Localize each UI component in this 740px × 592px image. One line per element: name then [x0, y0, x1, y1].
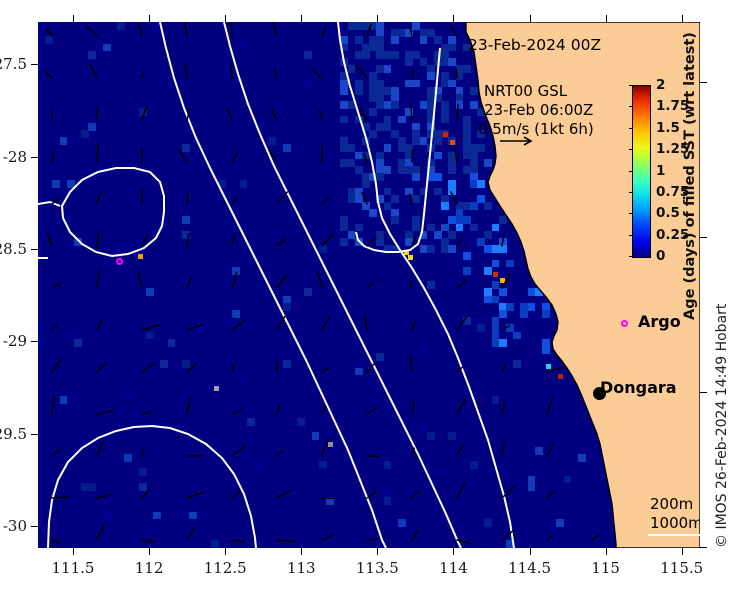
velocity-vector — [502, 275, 510, 288]
velocity-vector — [457, 318, 466, 330]
depth-1000m-label: 1000m — [650, 514, 700, 532]
velocity-vector — [232, 410, 242, 414]
velocity-vector — [322, 234, 333, 246]
x-tick-mark — [225, 548, 226, 555]
colorbar-title: Age (days) of filled SST (wrt latest) — [682, 298, 740, 320]
contour-arc-sw — [48, 426, 256, 548]
contour-edge-nw — [38, 202, 60, 206]
x-tick-label: 113.5 — [347, 559, 407, 577]
velocity-vector — [86, 26, 97, 36]
velocity-vector — [410, 28, 412, 36]
velocity-vector — [232, 492, 239, 498]
velocity-vector — [52, 540, 61, 543]
velocity-vector — [457, 483, 465, 498]
velocity-vector — [547, 367, 563, 372]
velocity-vector — [232, 363, 234, 372]
sst-age-map-figure: 23-Feb-2024 00Z NRT00 GSL 23-Feb 06:00Z … — [0, 0, 740, 592]
velocity-vector — [277, 239, 285, 246]
velocity-vector — [367, 407, 377, 414]
velocity-vector — [273, 22, 277, 36]
velocity-vector — [502, 440, 506, 456]
product-line-1: NRT00 GSL — [484, 82, 567, 100]
velocity-vector — [412, 531, 419, 541]
velocity-vector — [138, 22, 142, 36]
velocity-vector — [142, 448, 144, 456]
velocity-vector — [322, 368, 329, 372]
velocity-vector — [455, 148, 457, 162]
velocity-vector — [457, 239, 461, 246]
y-tick-mark-right — [700, 82, 707, 83]
velocity-vector — [502, 400, 504, 414]
velocity-vector — [97, 320, 102, 330]
y-tick-label: -27.5 — [0, 55, 27, 73]
argo-legend-icon — [621, 320, 628, 327]
velocity-vector — [187, 325, 203, 330]
x-tick-mark-top — [377, 15, 378, 22]
velocity-vector — [277, 405, 280, 414]
x-tick-mark — [301, 548, 302, 555]
colorbar-tick-label: 2 — [656, 77, 665, 93]
velocity-vector — [52, 359, 61, 373]
velocity-vector — [411, 355, 412, 372]
colorbar-tick-label: 0.5 — [656, 205, 680, 221]
argo-float-marker[interactable] — [116, 258, 123, 265]
velocity-vector — [367, 282, 374, 288]
velocity-vector — [547, 398, 553, 414]
velocity-vector — [322, 28, 326, 36]
velocity-vector — [364, 154, 367, 163]
velocity-vector — [138, 271, 142, 288]
colorbar-tick-mark — [629, 85, 633, 86]
colorbar-tick-label: 1.5 — [656, 120, 680, 136]
velocity-vector — [89, 63, 97, 78]
dongara-label: Dongara — [600, 378, 677, 397]
velocity-vector — [412, 491, 419, 499]
velocity-vector — [231, 22, 232, 36]
velocity-vector — [356, 66, 367, 79]
velocity-vector — [232, 321, 245, 330]
x-tick-mark-top — [301, 15, 302, 22]
velocity-vector — [142, 489, 150, 498]
velocity-vector — [274, 69, 277, 78]
depth-200m-label: 200m — [650, 495, 693, 513]
colorbar-tick-mark — [629, 149, 633, 150]
velocity-vector — [457, 280, 466, 288]
velocity-vector — [322, 316, 330, 330]
velocity-vector — [97, 270, 99, 288]
velocity-vector — [232, 152, 238, 162]
velocity-vector — [457, 445, 463, 456]
velocity-vector — [322, 407, 326, 415]
x-tick-mark-top — [453, 15, 454, 22]
velocity-vector — [97, 441, 103, 456]
x-tick-mark — [73, 548, 74, 555]
velocity-vector — [592, 535, 599, 540]
velocity-vector — [277, 490, 290, 498]
velocity-vector — [232, 234, 235, 246]
velocity-vector — [232, 540, 244, 542]
velocity-vector — [410, 194, 412, 204]
contour-shelf-2 — [224, 22, 461, 548]
velocity-vector — [457, 399, 466, 414]
velocity-vector — [547, 443, 554, 456]
product-line-2: 23-Feb 06:00Z — [484, 101, 593, 119]
colorbar-tick-mark — [629, 256, 633, 257]
y-tick-mark-right — [700, 392, 707, 393]
velocity-vector — [97, 525, 104, 540]
x-tick-mark-top — [530, 15, 531, 22]
velocity-vector — [367, 539, 376, 540]
colorbar-tick-label: 1 — [656, 163, 665, 179]
y-tick-mark — [31, 526, 38, 527]
velocity-vector — [51, 111, 52, 120]
velocity-vector — [97, 144, 98, 162]
x-tick-mark — [149, 548, 150, 555]
velocity-vector — [367, 239, 376, 246]
velocity-vector — [277, 450, 283, 456]
x-tick-mark-top — [73, 15, 74, 22]
velocity-vector — [412, 321, 416, 330]
date-stamp: 23-Feb-2024 00Z — [468, 36, 601, 54]
velocity-vector — [456, 69, 457, 78]
x-tick-mark — [682, 548, 683, 555]
velocity-vector — [232, 272, 237, 288]
velocity-vector — [142, 540, 154, 542]
velocity-vector — [412, 150, 413, 163]
y-tick-mark — [31, 434, 38, 435]
velocity-vector — [411, 279, 412, 288]
velocity-vector — [276, 359, 277, 372]
velocity-vector — [142, 412, 150, 414]
x-tick-mark — [530, 548, 531, 555]
velocity-vector — [52, 497, 69, 498]
colorbar-tick-label: 0 — [656, 248, 665, 264]
velocity-vector — [312, 68, 322, 78]
y-tick-label: -29 — [0, 332, 27, 350]
velocity-vector — [45, 71, 52, 78]
y-tick-mark — [31, 341, 38, 342]
velocity-vector — [367, 456, 378, 457]
velocity-vector — [367, 492, 376, 498]
velocity-vector — [97, 191, 101, 204]
velocity-vector — [502, 326, 510, 330]
velocity-vector — [502, 364, 506, 373]
x-tick-mark-top — [149, 15, 150, 22]
x-tick-label: 115.5 — [652, 559, 712, 577]
velocity-vector — [187, 192, 188, 204]
y-tick-label: -30 — [0, 517, 27, 535]
velocity-vector — [412, 400, 414, 414]
map-plot-area[interactable]: 23-Feb-2024 00Z NRT00 GSL 23-Feb 06:00Z … — [38, 22, 700, 548]
x-tick-label: 111.5 — [43, 559, 103, 577]
velocity-vector — [52, 282, 62, 288]
velocity-vector — [411, 105, 412, 120]
colorbar-tick-mark — [629, 192, 633, 193]
velocity-vector — [142, 106, 147, 120]
y-tick-label: -29.5 — [0, 425, 27, 443]
velocity-vector — [457, 104, 458, 120]
copyright-notice: © IMOS 26-Feb-2024 14:49 Hobart — [714, 318, 730, 548]
colorbar-gradient — [632, 85, 651, 258]
x-tick-label: 112 — [119, 559, 179, 577]
velocity-vector — [97, 232, 99, 247]
velocity-vector — [97, 363, 106, 372]
velocity-vector — [52, 325, 58, 330]
velocity-vector — [187, 456, 204, 457]
velocity-vector — [177, 148, 187, 162]
velocity-vector — [547, 491, 554, 498]
velocity-vector — [272, 110, 277, 120]
y-tick-label: -28 — [0, 148, 27, 166]
y-tick-mark — [31, 157, 38, 158]
velocity-vector — [547, 535, 552, 540]
velocity-vector — [412, 70, 414, 78]
coastline-and-contours — [38, 22, 700, 548]
velocity-vector — [229, 110, 232, 121]
velocity-vector — [141, 149, 142, 162]
velocity-vector — [97, 410, 114, 414]
velocity-vector — [232, 445, 247, 456]
velocity-vector — [412, 238, 414, 246]
velocity-vector — [451, 192, 457, 204]
velocity-vector — [277, 317, 285, 331]
x-tick-label: 114.5 — [500, 559, 560, 577]
x-tick-label: 112.5 — [195, 559, 255, 577]
x-tick-label: 115 — [576, 559, 636, 577]
velocity-vector — [47, 232, 52, 246]
velocity-vector — [277, 540, 295, 542]
colorbar-tick-mark — [629, 128, 633, 129]
velocity-vector — [187, 528, 195, 540]
velocity-vector — [232, 197, 237, 204]
velocity-vector — [322, 439, 327, 456]
velocity-vector — [142, 325, 159, 330]
velocity-vector — [187, 398, 190, 414]
velocity-vector — [322, 197, 330, 205]
velocity-vector — [185, 63, 188, 78]
product-line-3: 0.5m/s (1kt 6h) — [478, 120, 594, 138]
x-tick-mark-top — [682, 15, 683, 22]
x-tick-mark — [453, 548, 454, 555]
contour-shelf-1 — [160, 22, 386, 548]
velocity-vector — [361, 109, 368, 120]
colorbar-tick-mark — [629, 235, 633, 236]
y-tick-mark-right — [700, 237, 707, 238]
velocity-vector — [367, 364, 374, 372]
velocity-vector — [52, 396, 54, 414]
argo-legend-label: Argo — [638, 312, 681, 331]
velocity-vector — [277, 275, 287, 288]
velocity-vector — [502, 235, 504, 246]
velocity-vector — [187, 364, 196, 372]
colorbar-tick-mark — [629, 171, 633, 172]
velocity-vector — [322, 535, 334, 540]
x-tick-mark — [377, 548, 378, 555]
velocity-vector — [319, 111, 322, 120]
velocity-vector — [142, 364, 154, 372]
colorbar-tick-mark — [629, 213, 633, 214]
velocity-vector — [187, 234, 189, 246]
colorbar-tick-mark — [629, 106, 633, 107]
velocity-vector — [142, 71, 144, 78]
x-tick-mark-top — [225, 15, 226, 22]
velocity-vector — [52, 450, 59, 456]
y-tick-mark — [31, 249, 38, 250]
velocity-vector — [184, 22, 187, 36]
velocity-vector — [52, 152, 54, 162]
x-tick-label: 114 — [423, 559, 483, 577]
x-tick-mark — [606, 548, 607, 555]
velocity-vector — [187, 493, 203, 498]
velocity-vector — [317, 271, 322, 288]
y-tick-mark-right — [700, 547, 707, 548]
y-tick-mark — [31, 64, 38, 65]
velocity-vector — [412, 448, 414, 456]
velocity-vector — [365, 315, 367, 330]
contour-closed-nw — [62, 168, 164, 256]
velocity-vector — [362, 193, 367, 204]
y-tick-label: -28.5 — [0, 240, 27, 258]
velocity-vector — [97, 495, 112, 499]
velocity-vector — [47, 29, 52, 36]
velocity-vector — [451, 26, 457, 36]
depth-key-line — [648, 534, 700, 536]
velocity-vector — [187, 276, 192, 288]
colorbar[interactable]: 21.751.51.2510.750.50.250 — [632, 85, 651, 258]
x-tick-label: 113 — [271, 559, 331, 577]
velocity-vector — [277, 192, 287, 204]
x-tick-mark-top — [606, 15, 607, 22]
velocity-vector — [367, 25, 371, 37]
